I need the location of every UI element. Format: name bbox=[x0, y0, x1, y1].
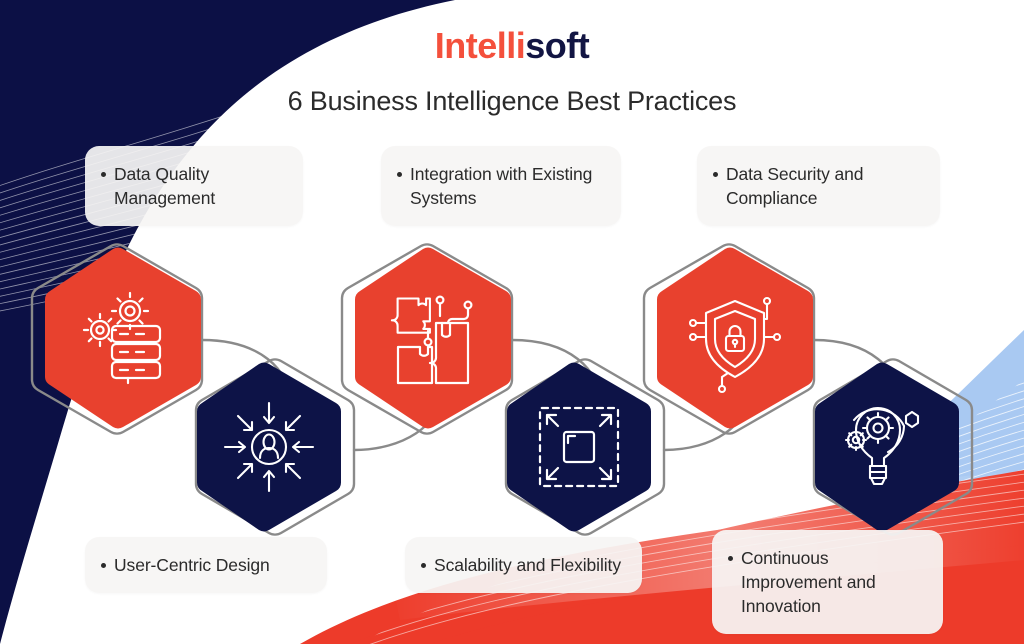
hexagon-continuous-improvement-and-innovation[interactable] bbox=[808, 358, 966, 536]
hexagon-data-quality-management[interactable] bbox=[38, 243, 208, 433]
bullet-icon bbox=[421, 563, 426, 568]
card-label: Data Quality Management bbox=[114, 162, 285, 210]
hexagon-fill bbox=[355, 248, 511, 429]
label-card-continuous-improvement-and-innovation[interactable]: Continuous Improvement and Innovation bbox=[712, 530, 943, 634]
card-label: Integration with Existing Systems bbox=[410, 162, 603, 210]
hexagon-integration-with-existing-systems[interactable] bbox=[348, 243, 518, 433]
card-label: Scalability and Flexibility bbox=[434, 553, 621, 577]
card-label: User-Centric Design bbox=[114, 553, 270, 577]
infographic-canvas: Intellisoft 6 Business Intelligence Best… bbox=[0, 0, 1024, 644]
hexagon-data-security-and-compliance[interactable] bbox=[650, 243, 820, 433]
bullet-icon bbox=[713, 172, 718, 177]
bullet-icon bbox=[101, 563, 106, 568]
hexagon-scalability-and-flexibility[interactable] bbox=[500, 358, 658, 536]
bullet-icon bbox=[397, 172, 402, 177]
bullet-icon bbox=[728, 556, 733, 561]
card-label: Continuous Improvement and Innovation bbox=[741, 546, 925, 618]
hexagon-fill bbox=[657, 248, 813, 429]
label-card-data-security-and-compliance[interactable]: Data Security and Compliance bbox=[697, 146, 940, 226]
label-card-integration-with-existing-systems[interactable]: Integration with Existing Systems bbox=[381, 146, 621, 226]
label-card-data-quality-management[interactable]: Data Quality Management bbox=[85, 146, 303, 226]
hexagon-fill bbox=[45, 248, 201, 429]
hexagon-fill bbox=[815, 363, 959, 532]
hexagon-fill bbox=[507, 363, 651, 532]
user-arrows-inward-icon bbox=[225, 403, 313, 491]
label-card-scalability-and-flexibility[interactable]: Scalability and Flexibility bbox=[405, 537, 642, 593]
label-card-user-centric-design[interactable]: User-Centric Design bbox=[85, 537, 327, 593]
hexagon-user-centric-design[interactable] bbox=[190, 358, 348, 536]
card-label: Data Security and Compliance bbox=[726, 162, 922, 210]
bullet-icon bbox=[101, 172, 106, 177]
